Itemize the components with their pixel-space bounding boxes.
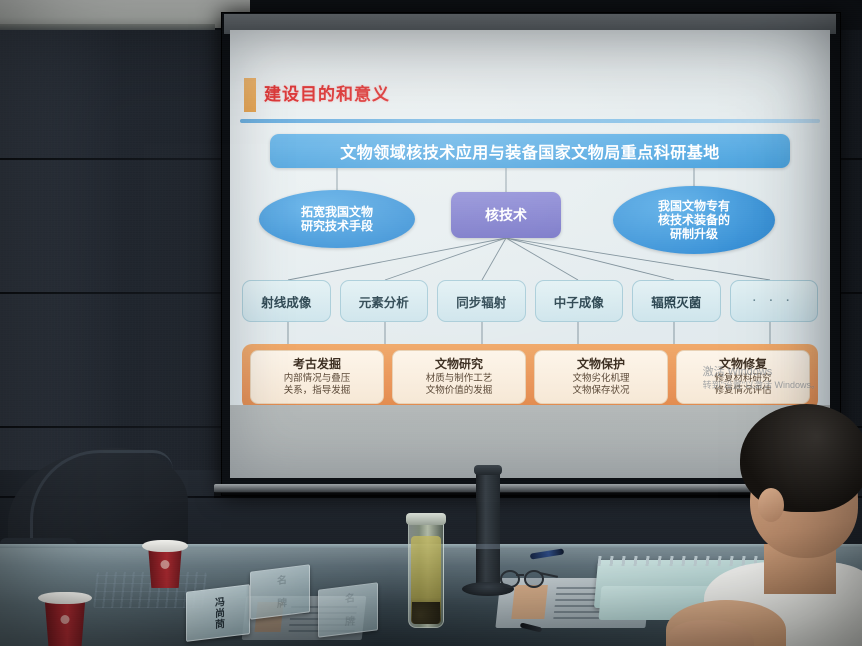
glasses-bridge	[516, 574, 524, 576]
paper-cup[interactable]	[146, 540, 184, 588]
jar-tea-leaves	[412, 602, 440, 624]
presentation-slide: 建设目的和意义 文物领域核技术应用与装备国家文物局重点科研基地	[230, 30, 830, 405]
paper-color-block	[511, 585, 548, 619]
card-line2: 文物价值的发掘	[426, 385, 493, 396]
node-center-box: 核技术	[451, 192, 561, 238]
wall-light-sheen	[0, 30, 120, 500]
name-placard-text: 冯尚茼	[211, 596, 226, 631]
card-heading: 文物保护	[577, 358, 625, 372]
card-heading: 文物研究	[435, 358, 483, 372]
application-card-protection: 文物保护 文物劣化机理 文物保存状况	[534, 350, 668, 404]
name-placard: 名 牌	[250, 564, 310, 619]
technique-chip-row: 射线成像 元素分析 同步辐射 中子成像 辐照灭菌 · · ·	[242, 280, 818, 322]
slide-banner: 文物领域核技术应用与装备国家文物局重点科研基地	[270, 134, 790, 168]
card-line1: 材质与制作工艺	[426, 373, 493, 384]
person-ear	[758, 488, 784, 522]
chip-neutron-imaging: 中子成像	[535, 280, 624, 322]
card-line2: 关系，指导发掘	[284, 385, 351, 396]
conference-microphone[interactable]	[476, 470, 500, 588]
node-left-line1: 拓宽我国文物	[301, 205, 373, 219]
title-accent-bar	[244, 78, 256, 112]
name-placard: 冯尚茼	[186, 584, 250, 642]
cup-logo	[61, 615, 70, 624]
paper-cup[interactable]	[42, 592, 88, 646]
watermark-line1: 激活 Windows	[703, 366, 820, 380]
conference-room-photo: 建设目的和意义 文物领域核技术应用与装备国家文物局重点科研基地	[0, 0, 862, 646]
name-placard-text: 名 牌	[341, 592, 356, 628]
card-line1: 文物劣化机理	[572, 373, 629, 384]
application-card-research: 文物研究 材质与制作工艺 文物价值的发掘	[392, 350, 526, 404]
node-left-line2: 研究技术手段	[301, 219, 373, 233]
watermark-line2: 转到"设置"以激活 Windows。	[703, 380, 820, 392]
name-placard-text: 名 牌	[273, 574, 288, 610]
card-heading: 考古发掘	[293, 358, 341, 372]
cup-logo	[161, 560, 170, 569]
chip-xray-imaging: 射线成像	[242, 280, 331, 322]
title-underline	[240, 119, 820, 123]
application-card-archaeology: 考古发掘 内部情况与叠压 关系，指导发掘	[250, 350, 384, 404]
glasses-lens-left	[500, 570, 520, 588]
chip-irradiation: 辐照灭菌	[632, 280, 721, 322]
slide-title: 建设目的和意义	[264, 80, 390, 105]
windows-activation-watermark: 激活 Windows 转到"设置"以激活 Windows。	[703, 366, 820, 391]
person-hair	[740, 404, 862, 512]
node-left-ellipse: 拓宽我国文物 研究技术手段	[259, 190, 415, 248]
attendee-seated-right	[692, 404, 862, 646]
card-line2: 文物保存状况	[572, 385, 629, 396]
node-right-line3: 研制升级	[658, 227, 730, 241]
node-right-line2: 核技术装备的	[658, 213, 730, 227]
jar-lid	[406, 513, 446, 525]
node-right-ellipse: 我国文物专有 核技术装备的 研制升级	[613, 186, 775, 254]
eyeglasses[interactable]	[500, 570, 556, 586]
mic-cap	[474, 465, 502, 475]
chip-element-analysis: 元素分析	[340, 280, 429, 322]
tea-jar[interactable]	[408, 516, 444, 628]
chip-synchrotron: 同步辐射	[437, 280, 526, 322]
cup-lid	[142, 540, 188, 552]
node-right-line1: 我国文物专有	[658, 199, 730, 213]
cup-lid	[38, 592, 92, 604]
mic-ring	[476, 544, 500, 549]
name-placard: 名 牌	[318, 582, 378, 637]
chip-more-ellipsis: · · ·	[730, 280, 819, 322]
card-line1: 内部情况与叠压	[284, 373, 351, 384]
